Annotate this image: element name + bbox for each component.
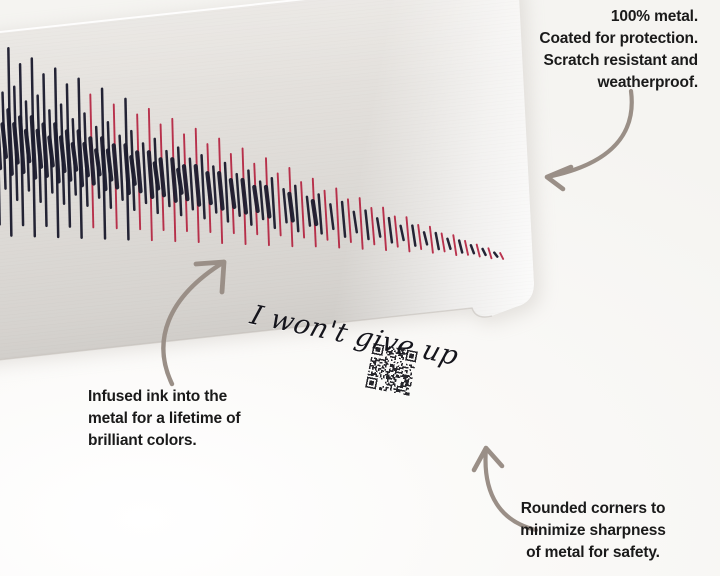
callout-line: minimize sharpness	[480, 520, 706, 542]
callout-corners: Rounded corners tominimize sharpnessof m…	[480, 498, 706, 564]
callout-line: brilliant colors.	[88, 430, 318, 452]
callout-material: 100% metal.Coated for protection.Scratch…	[368, 6, 698, 94]
callout-line: Coated for protection.	[368, 28, 698, 50]
callout-line: metal for a lifetime of	[88, 408, 318, 430]
callout-line: Rounded corners to	[480, 498, 706, 520]
product-marketing-image: I won't give up 100% metal.Coated for pr…	[0, 0, 720, 576]
callout-line: of metal for safety.	[480, 542, 706, 564]
callout-line: weatherproof.	[368, 72, 698, 94]
callout-line: Scratch resistant and	[368, 50, 698, 72]
callout-line: Infused ink into the	[88, 386, 318, 408]
qr-code	[365, 343, 418, 396]
callout-ink: Infused ink into themetal for a lifetime…	[88, 386, 318, 452]
callout-line: 100% metal.	[368, 6, 698, 28]
